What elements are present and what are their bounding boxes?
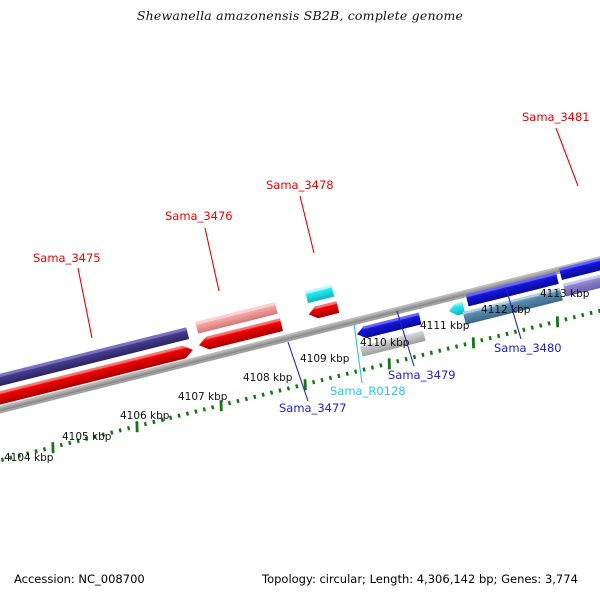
ruler-minor-tick [463,342,466,346]
ruler-minor-tick [447,346,450,350]
tick-label-4109: 4109 kbp [300,353,350,365]
ruler-minor-tick [127,426,130,430]
ruler-minor-tick [287,386,290,390]
label-sama-3479[interactable]: Sama_3479 [388,368,456,382]
ruler-minor-tick [522,328,525,332]
ruler-minor-tick [177,413,180,417]
ruler-minor-tick [228,401,231,405]
label-sama-3477[interactable]: Sama_3477 [279,401,347,415]
leader-sama-3481 [556,128,578,186]
tick-label-4105: 4105 kbp [62,431,112,443]
ruler-minor-tick [245,397,248,401]
ruler-minor-tick [144,422,147,426]
ruler-minor-tick [203,407,206,411]
ruler-major-tick [556,316,559,327]
ruler-minor-tick [362,367,365,371]
ruler-minor-tick [43,447,46,451]
ruler-minor-tick [312,380,315,384]
label-sama-3475[interactable]: Sama_3475 [33,251,101,265]
ruler-minor-tick [186,411,189,415]
ruler-minor-tick [354,369,357,373]
tick-label-4110: 4110 kbp [360,337,410,349]
leader-sama-3475 [78,268,92,338]
ruler-minor-tick [514,330,517,334]
ruler-minor-tick [489,336,492,340]
ruler-minor-tick [539,323,542,327]
label-sama-3476[interactable]: Sama_3476 [165,209,233,223]
tick-label-4106: 4106 kbp [120,410,170,422]
gene-sama-3478[interactable] [303,285,339,320]
ruler-minor-tick [278,388,281,392]
ruler-minor-tick [194,409,197,413]
ruler-minor-tick [329,376,332,380]
label-sama-r0128[interactable]: Sama_R0128 [330,384,406,398]
accession-text: Accession: NC_008700 [14,572,145,586]
tick-label-4107: 4107 kbp [178,391,228,403]
ruler-minor-tick [581,313,584,317]
ruler-minor-tick [371,365,374,369]
status-bar: Accession: NC_008700 Topology: circular;… [0,560,600,600]
ruler-minor-tick [404,357,407,361]
ruler-minor-tick [531,325,534,329]
ruler-minor-tick [262,392,265,396]
tick-label-4112: 4112 kbp [481,304,531,316]
ruler-minor-tick [211,405,214,409]
ruler-minor-tick [270,390,273,394]
ruler-major-tick [472,337,475,348]
tick-label-4104: 4104 kbp [4,452,54,464]
ruler-minor-tick [119,428,122,432]
ruler-minor-tick [505,332,508,336]
gene-sama-r0128[interactable] [448,302,465,317]
genome-viewer[interactable]: Shewanella amazonensis SB2B, complete ge… [0,0,600,600]
tick-label-4108: 4108 kbp [243,372,293,384]
ruler-minor-tick [589,311,592,315]
ruler-minor-tick [547,321,550,325]
ruler-minor-tick [455,344,458,348]
ruler-minor-tick [253,395,256,399]
ruler-minor-tick [497,334,500,338]
leader-sama-3478 [300,196,314,253]
ruler-minor-tick [421,353,424,357]
ruler-minor-tick [320,378,323,382]
label-sama-3478[interactable]: Sama_3478 [266,178,334,192]
ruler-minor-tick [169,416,172,420]
tick-label-4113: 4113 kbp [540,288,590,300]
ruler-minor-tick [438,348,441,352]
genome-backbone[interactable] [0,247,600,424]
ruler-minor-tick [60,443,63,447]
ruler-minor-tick [236,399,239,403]
ruler-minor-tick [564,317,567,321]
tick-label-4111: 4111 kbp [420,320,470,332]
ruler-minor-tick [430,351,433,355]
leader-sama-3476 [205,228,219,291]
ruler-minor-tick [413,355,416,359]
ruler-minor-tick [396,359,399,363]
label-sama-3480[interactable]: Sama_3480 [494,341,562,355]
ruler-minor-tick [346,372,349,376]
ruler-minor-tick [480,338,483,342]
label-sama-3481[interactable]: Sama_3481 [522,110,590,124]
ruler-minor-tick [379,363,382,367]
ruler-minor-tick [573,315,576,319]
topology-text: Topology: circular; Length: 4,306,142 bp… [262,572,578,586]
genome-map[interactable]: 4104 kbp 4105 kbp 4106 kbp 4107 kbp 4108… [0,0,600,600]
ruler-minor-tick [337,374,340,378]
ruler-minor-tick [295,384,298,388]
ruler-major-tick [135,421,138,432]
